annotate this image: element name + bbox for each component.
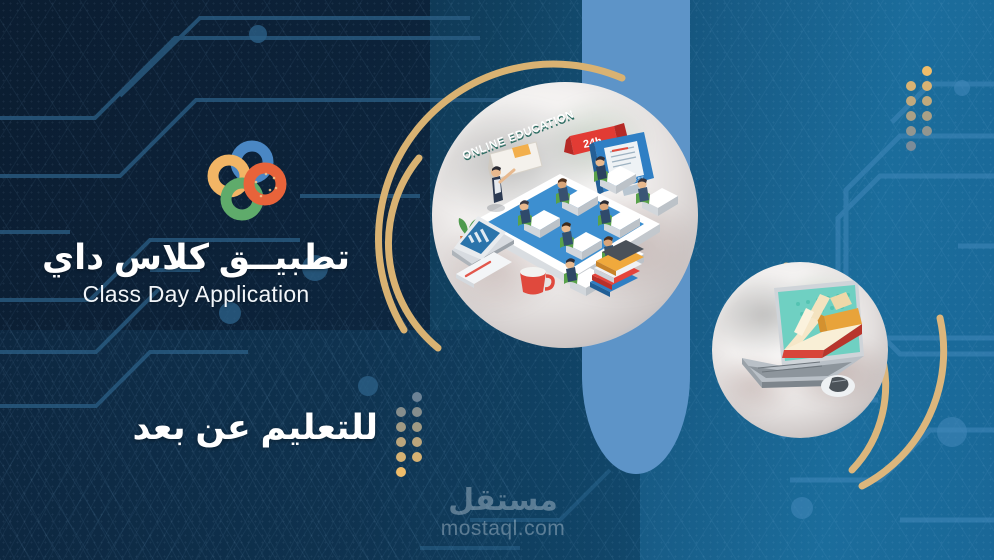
dot-column-decoration-left-icon (396, 392, 432, 492)
mostaql-watermark: مستقل mostaql.com (418, 486, 588, 550)
decorative-dot (396, 452, 406, 462)
secondary-illustration-circle (712, 262, 888, 438)
decorative-dot (412, 422, 422, 432)
decorative-dot (922, 96, 932, 106)
decorative-dot (906, 81, 916, 91)
main-illustration-circle: ONLINE EDUCATION ONLINE EDUCATION 24h (432, 82, 698, 348)
tagline-text: للتعليم عن بعد (48, 408, 378, 448)
decorative-dot (922, 66, 932, 76)
decorative-dot (906, 96, 916, 106)
online-classroom-isometric-illustration-icon: ONLINE EDUCATION ONLINE EDUCATION 24h (432, 82, 698, 348)
dot-column-decoration-right-icon (906, 66, 942, 174)
decorative-dot (396, 407, 406, 417)
brand-title-arabic: تطبيــق كلاس داي (0, 238, 392, 278)
decorative-dot (396, 467, 406, 477)
decorative-dot (922, 126, 932, 136)
brand-title-block: تطبيــق كلاس داي Class Day Application (0, 238, 392, 308)
decorative-dot (412, 452, 422, 462)
watermark-url: mostaql.com (418, 517, 588, 541)
decorative-dot (906, 111, 916, 121)
decorative-dot (396, 437, 406, 447)
decorative-dot (412, 392, 422, 402)
four-ring-pinwheel-logo-icon (204, 138, 290, 222)
watermark-arabic: مستقل (418, 486, 588, 516)
decorative-dot (922, 81, 932, 91)
decorative-dot (412, 407, 422, 417)
laptop-with-open-book-illustration-icon (712, 262, 888, 438)
poster-canvas: ONLINE EDUCATION ONLINE EDUCATION 24h (0, 0, 994, 560)
decorative-dot (906, 126, 916, 136)
decorative-dot (412, 437, 422, 447)
decorative-dot (396, 422, 406, 432)
brand-title-english: Class Day Application (0, 281, 392, 308)
decorative-dot (922, 111, 932, 121)
decorative-dot (906, 141, 916, 151)
